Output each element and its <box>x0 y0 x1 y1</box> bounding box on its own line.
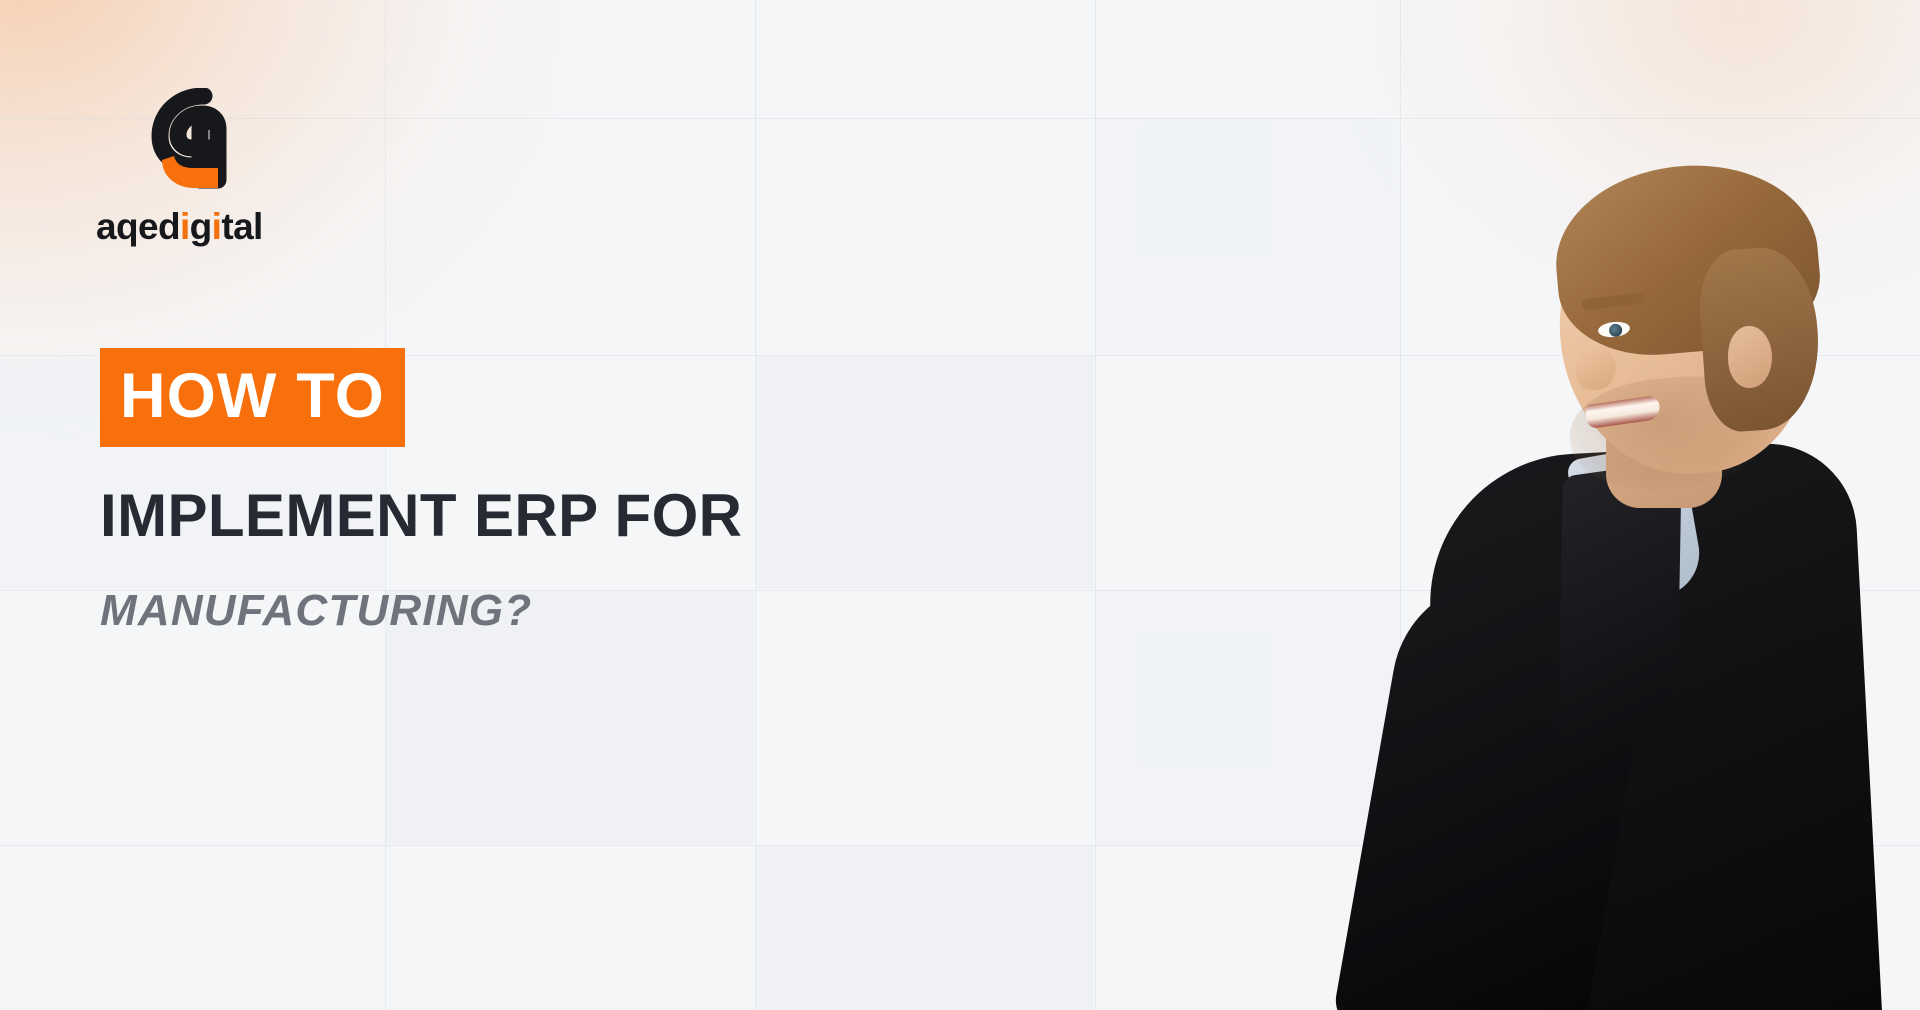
aqe-a-monogram-icon <box>138 88 230 196</box>
businessman-figure <box>1410 150 1880 1010</box>
headline-sub: MANUFACTURING? <box>100 589 1040 633</box>
hero-banner: aqedigital HOW TO IMPLEMENT ERP FOR MANU… <box>0 0 1920 1010</box>
brand-logo[interactable]: aqedigital <box>96 88 326 245</box>
ear <box>1728 326 1772 388</box>
nose <box>1576 346 1616 390</box>
headline-block: HOW TO IMPLEMENT ERP FOR MANUFACTURING? <box>100 348 1040 633</box>
hero-photo: ANNUAL STATISTICS 74% 51% 38% MARKET OVE… <box>1000 0 1920 1010</box>
headline-main: IMPLEMENT ERP FOR <box>100 485 1040 547</box>
headline-kicker: HOW TO <box>100 348 405 447</box>
brand-wordmark: aqedigital <box>96 208 326 245</box>
